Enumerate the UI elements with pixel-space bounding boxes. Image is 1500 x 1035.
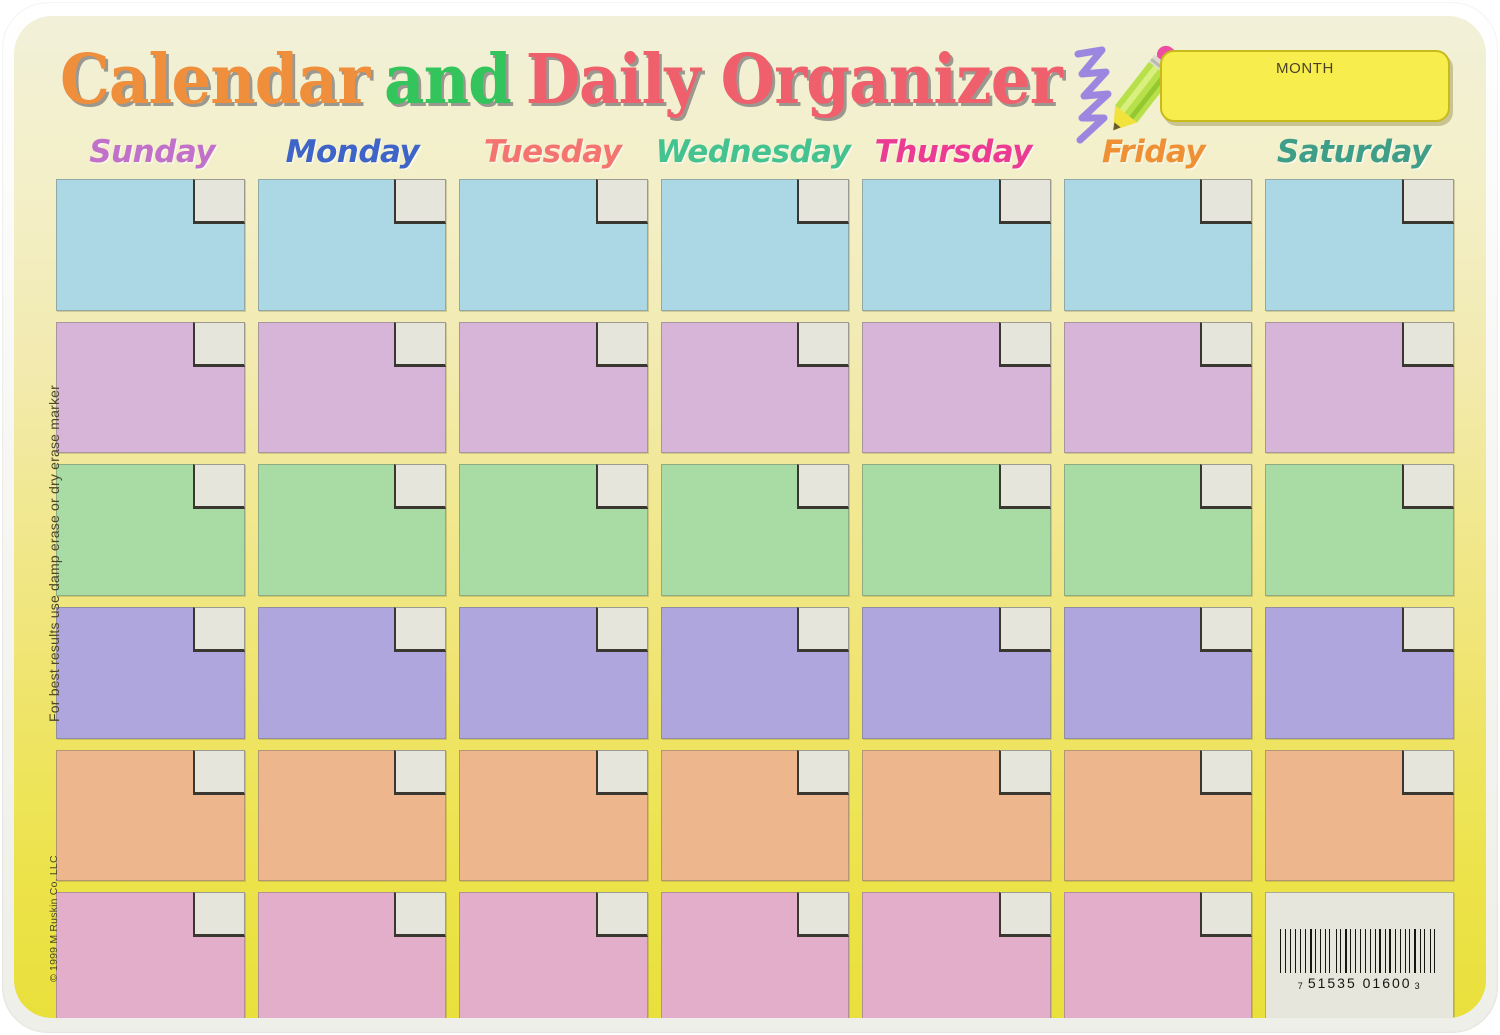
date-number-box[interactable]: [596, 464, 648, 509]
printed-card: CalendarandDaily Organizer: [14, 16, 1486, 1018]
date-number-box[interactable]: [193, 464, 245, 509]
date-number-box[interactable]: [596, 322, 648, 367]
calendar-day-cell[interactable]: [862, 750, 1051, 882]
weekday-tuesday: Tuesday: [453, 134, 653, 178]
calendar-day-cell[interactable]: [258, 322, 447, 454]
date-number-box[interactable]: [1402, 464, 1454, 509]
date-number-box[interactable]: [797, 464, 849, 509]
date-number-box[interactable]: [394, 322, 446, 367]
date-number-box[interactable]: [999, 892, 1051, 937]
calendar-day-cell[interactable]: [661, 322, 850, 454]
calendar-day-cell[interactable]: [1064, 179, 1253, 311]
calendar-day-cell[interactable]: [1265, 750, 1454, 882]
date-number-box[interactable]: [1200, 179, 1252, 224]
calendar-day-cell[interactable]: [1265, 607, 1454, 739]
calendar-day-cell[interactable]: [1064, 750, 1253, 882]
date-number-box[interactable]: [999, 607, 1051, 652]
weekday-friday: Friday: [1053, 134, 1253, 178]
date-number-box[interactable]: [797, 322, 849, 367]
date-number-box[interactable]: [1402, 179, 1454, 224]
calendar-day-cell[interactable]: [459, 464, 648, 596]
title-word-daily-organizer: Daily Organizer: [526, 40, 1062, 120]
calendar-day-cell[interactable]: [56, 750, 245, 882]
date-number-box[interactable]: [394, 464, 446, 509]
calendar-day-cell[interactable]: [1064, 892, 1253, 1018]
date-number-box[interactable]: [394, 607, 446, 652]
date-number-box[interactable]: [1402, 750, 1454, 795]
calendar-day-cell[interactable]: [862, 322, 1051, 454]
date-number-box[interactable]: [797, 607, 849, 652]
placemat-root: CalendarandDaily Organizer: [0, 0, 1500, 1035]
date-number-box[interactable]: [394, 179, 446, 224]
calendar-day-cell[interactable]: [661, 179, 850, 311]
month-label: MONTH: [1162, 60, 1448, 77]
calendar-day-cell[interactable]: [459, 179, 648, 311]
calendar-day-cell[interactable]: [862, 892, 1051, 1018]
calendar-day-cell[interactable]: [459, 322, 648, 454]
care-instructions-text: For best results use damp erase or dry e…: [46, 385, 62, 722]
calendar-day-cell[interactable]: [1064, 607, 1253, 739]
calendar-day-cell[interactable]: [258, 179, 447, 311]
date-number-box[interactable]: [797, 179, 849, 224]
calendar-day-cell[interactable]: [1265, 464, 1454, 596]
date-number-box[interactable]: [999, 322, 1051, 367]
calendar-day-cell[interactable]: [56, 607, 245, 739]
date-number-box[interactable]: [1402, 322, 1454, 367]
calendar-day-cell[interactable]: [1265, 322, 1454, 454]
calendar-day-cell[interactable]: [56, 179, 245, 311]
calendar-day-cell[interactable]: [459, 750, 648, 882]
title-word-calendar: Calendar: [60, 40, 369, 120]
calendar-day-cell[interactable]: [1265, 179, 1454, 311]
date-number-box[interactable]: [193, 179, 245, 224]
weekday-sunday: Sunday: [52, 134, 252, 178]
date-number-box[interactable]: [394, 892, 446, 937]
month-input-field[interactable]: MONTH: [1160, 50, 1450, 122]
calendar-day-cell[interactable]: [661, 892, 850, 1018]
calendar-day-cell[interactable]: [661, 464, 850, 596]
barcode-bars: [1280, 925, 1440, 973]
date-number-box[interactable]: [999, 464, 1051, 509]
date-number-box[interactable]: [999, 750, 1051, 795]
date-number-box[interactable]: [193, 750, 245, 795]
calendar-day-cell[interactable]: [459, 607, 648, 739]
calendar-day-cell[interactable]: [56, 464, 245, 596]
calendar-day-cell[interactable]: [258, 464, 447, 596]
calendar-day-cell[interactable]: [862, 179, 1051, 311]
date-number-box[interactable]: [1200, 607, 1252, 652]
barcode-digits: 751535 016003: [1280, 975, 1440, 991]
date-number-box[interactable]: [1200, 892, 1252, 937]
copyright-text: © 1999 M Ruskin Co. LLC: [48, 855, 60, 982]
date-number-box[interactable]: [193, 322, 245, 367]
date-number-box[interactable]: [596, 892, 648, 937]
barcode-panel: 751535 016003: [1265, 892, 1454, 1018]
date-number-box[interactable]: [1200, 464, 1252, 509]
calendar-day-cell[interactable]: [862, 464, 1051, 596]
date-number-box[interactable]: [797, 750, 849, 795]
calendar-day-cell[interactable]: [459, 892, 648, 1018]
date-number-box[interactable]: [1200, 322, 1252, 367]
calendar-day-cell[interactable]: [1064, 464, 1253, 596]
calendar-day-cell[interactable]: [1064, 322, 1253, 454]
date-number-box[interactable]: [1402, 607, 1454, 652]
weekday-wednesday: Wednesday: [653, 134, 853, 178]
date-number-box[interactable]: [193, 892, 245, 937]
date-number-box[interactable]: [596, 750, 648, 795]
date-number-box[interactable]: [999, 179, 1051, 224]
date-number-box[interactable]: [797, 892, 849, 937]
date-number-box[interactable]: [1200, 750, 1252, 795]
date-number-box[interactable]: [596, 607, 648, 652]
weekday-header-row: Sunday Monday Tuesday Wednesday Thursday…: [52, 134, 1454, 178]
page-title: CalendarandDaily Organizer: [60, 40, 1062, 120]
calendar-day-cell[interactable]: [258, 892, 447, 1018]
date-number-box[interactable]: [596, 179, 648, 224]
calendar-day-cell[interactable]: [661, 607, 850, 739]
calendar-day-cell[interactable]: [56, 892, 245, 1018]
weekday-saturday: Saturday: [1254, 134, 1454, 178]
date-number-box[interactable]: [193, 607, 245, 652]
calendar-day-cell[interactable]: [56, 322, 245, 454]
date-number-box[interactable]: [394, 750, 446, 795]
weekday-monday: Monday: [252, 134, 452, 178]
calendar-grid: 751535 016003: [56, 179, 1454, 1018]
calendar-day-cell[interactable]: [258, 750, 447, 882]
weekday-thursday: Thursday: [853, 134, 1053, 178]
calendar-day-cell[interactable]: [661, 750, 850, 882]
title-word-and: and: [384, 40, 511, 120]
calendar-day-cell[interactable]: [862, 607, 1051, 739]
calendar-day-cell[interactable]: [258, 607, 447, 739]
